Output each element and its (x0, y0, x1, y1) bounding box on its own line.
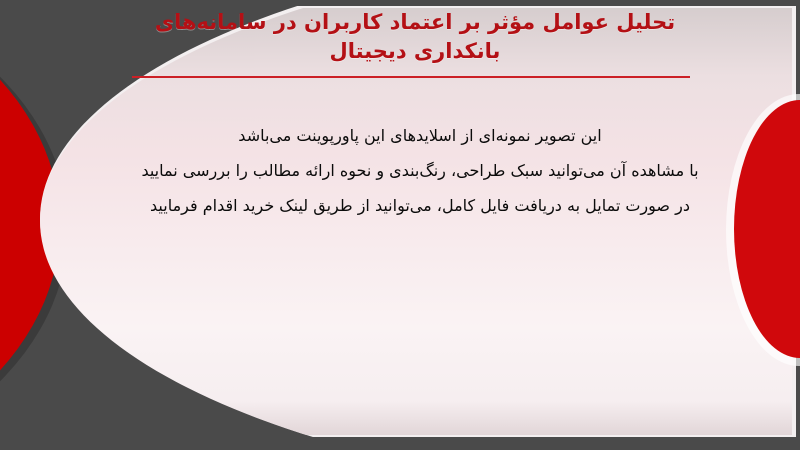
slide-title-line-1: تحلیل عوامل مؤثر بر اعتماد کاربران در سا… (155, 10, 675, 34)
body-line-2: با مشاهده آن می‌توانید سبک طراحی، رنگ‌بن… (80, 153, 760, 188)
slide-title: تحلیل عوامل مؤثر بر اعتماد کاربران در سا… (120, 8, 710, 66)
body-line-3: در صورت تمایل به دریافت فایل کامل، می‌تو… (80, 188, 760, 223)
title-divider-rule (132, 76, 690, 78)
presentation-slide: تحلیل عوامل مؤثر بر اعتماد کاربران در سا… (0, 0, 800, 450)
slide-body-text: این تصویر نمونه‌ای از اسلایدهای این پاور… (80, 118, 760, 223)
body-line-1: این تصویر نمونه‌ای از اسلایدهای این پاور… (80, 118, 760, 153)
slide-title-line-2: بانکداری دیجیتال (330, 39, 501, 63)
